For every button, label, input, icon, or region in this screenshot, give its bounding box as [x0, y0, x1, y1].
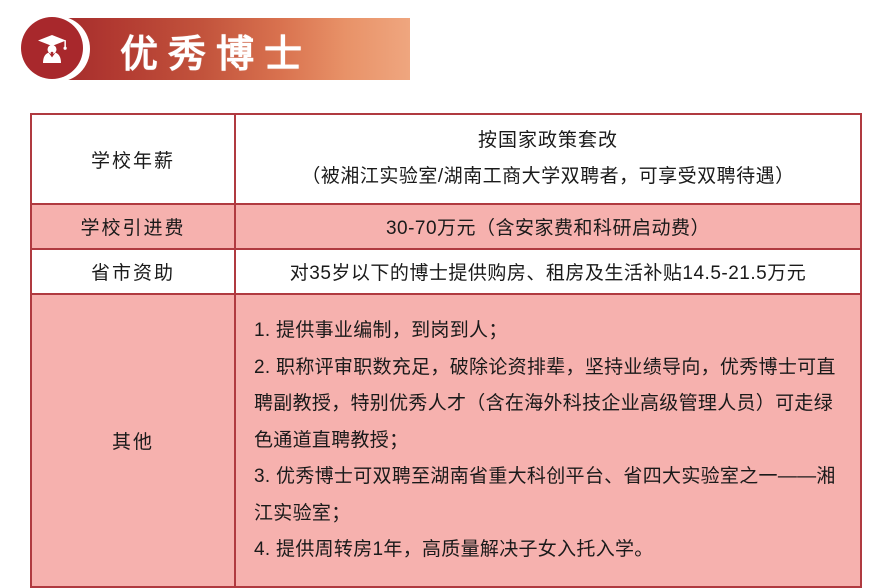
- row-value-other: 1. 提供事业编制，到岗到人； 2. 职称评审职数充足，破除论资排辈，坚持业绩导…: [235, 294, 861, 587]
- list-item: 3. 优秀博士可双聘至湖南省重大科创平台、省四大实验室之一——湘江实验室；: [254, 459, 836, 532]
- row-label-other: 其他: [31, 294, 235, 587]
- document-page: 优秀博士 学校年薪 按国家政策套改 （被湘江实验室/湖南工商大学双聘者，可享受双…: [0, 0, 895, 588]
- recruitment-fee-text: 30-70万元（含安家费和科研启动费）: [250, 213, 846, 240]
- list-item: 2. 职称评审职数充足，破除论资排辈，坚持业绩导向，优秀博士可直聘副教授，特别优…: [254, 350, 836, 459]
- list-item: 4. 提供周转房1年，高质量解决子女入托入学。: [254, 532, 836, 568]
- table-row: 学校引进费 30-70万元（含安家费和科研启动费）: [31, 204, 861, 249]
- page-title: 优秀博士: [120, 20, 420, 80]
- graduate-cap-person-icon: [21, 17, 83, 79]
- table-row: 其他 1. 提供事业编制，到岗到人； 2. 职称评审职数充足，破除论资排辈，坚持…: [31, 294, 861, 587]
- row-label-recruitment-fee: 学校引进费: [31, 204, 235, 249]
- row-value-recruitment-fee: 30-70万元（含安家费和科研启动费）: [235, 204, 861, 249]
- benefits-table: 学校年薪 按国家政策套改 （被湘江实验室/湖南工商大学双聘者，可享受双聘待遇） …: [30, 113, 862, 588]
- row-label-annual-salary: 学校年薪: [31, 114, 235, 204]
- table-row: 学校年薪 按国家政策套改 （被湘江实验室/湖南工商大学双聘者，可享受双聘待遇）: [31, 114, 861, 204]
- annual-salary-line-2: （被湘江实验室/湖南工商大学双聘者，可享受双聘待遇）: [250, 159, 846, 195]
- provincial-subsidy-text: 对35岁以下的博士提供购房、租房及生活补贴14.5-21.5万元: [250, 258, 846, 285]
- other-benefits-list: 1. 提供事业编制，到岗到人； 2. 职称评审职数充足，破除论资排辈，坚持业绩导…: [250, 303, 846, 578]
- row-value-annual-salary: 按国家政策套改 （被湘江实验室/湖南工商大学双聘者，可享受双聘待遇）: [235, 114, 861, 204]
- table-row: 省市资助 对35岁以下的博士提供购房、租房及生活补贴14.5-21.5万元: [31, 249, 861, 294]
- annual-salary-line-1: 按国家政策套改: [250, 123, 846, 159]
- row-label-provincial-subsidy: 省市资助: [31, 249, 235, 294]
- list-item: 1. 提供事业编制，到岗到人；: [254, 313, 836, 349]
- row-value-provincial-subsidy: 对35岁以下的博士提供购房、租房及生活补贴14.5-21.5万元: [235, 249, 861, 294]
